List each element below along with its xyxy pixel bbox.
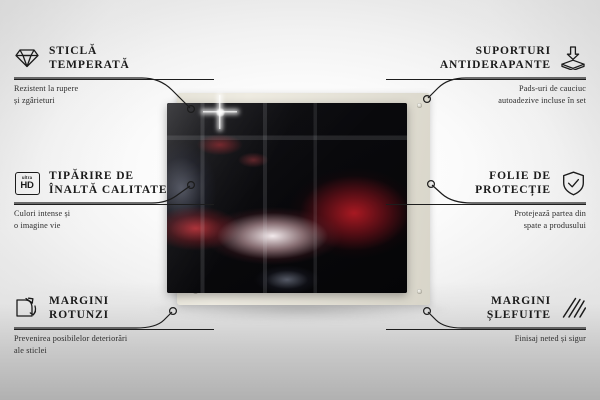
feature-title-line1: SUPORTURI bbox=[440, 44, 551, 58]
feature-divider bbox=[386, 79, 586, 80]
diagonal-lines-icon bbox=[560, 295, 586, 321]
feature-title: FOLIE DE PROTECȚIE bbox=[475, 169, 551, 197]
feature-title-line1: TIPĂRIRE DE bbox=[49, 169, 167, 183]
feature-title: TIPĂRIRE DE ÎNALTĂ CALITATE bbox=[49, 169, 167, 197]
feature-title-line2: ROTUNZI bbox=[49, 308, 109, 322]
feature-tiparire-inalta-calitate: ultra HD TIPĂRIRE DE ÎNALTĂ CALITATE Cul… bbox=[14, 165, 214, 231]
feature-margini-rotunzi: MARGINI ROTUNZI Prevenirea posibilelor d… bbox=[14, 290, 214, 356]
feature-title-line1: STICLĂ bbox=[49, 44, 130, 58]
diamond-icon bbox=[14, 45, 40, 71]
feature-title: STICLĂ TEMPERATĂ bbox=[49, 44, 130, 72]
feature-description: Culori intense și o imagine vie bbox=[14, 208, 214, 231]
feature-desc-line1: Prevenirea posibilelor deteriorări bbox=[14, 333, 214, 345]
feature-desc-line1: Culori intense și bbox=[14, 208, 214, 220]
feature-desc-line2: ale sticlei bbox=[14, 345, 214, 357]
feature-title-line2: PROTECȚIE bbox=[475, 183, 551, 197]
feature-description: Prevenirea posibilelor deteriorări ale s… bbox=[14, 333, 214, 356]
feature-title-line2: TEMPERATĂ bbox=[49, 58, 130, 72]
feature-header: MARGINI ȘLEFUITE bbox=[386, 290, 586, 326]
feature-header: SUPORTURI ANTIDERAPANTE bbox=[386, 40, 586, 76]
feature-title-line2: ȘLEFUITE bbox=[487, 308, 551, 322]
feature-divider bbox=[386, 329, 586, 330]
feature-folie-de-protectie: FOLIE DE PROTECȚIE Protejează partea din… bbox=[386, 165, 586, 231]
feature-divider bbox=[14, 204, 214, 205]
hd-badge-frame: ultra HD bbox=[15, 172, 40, 195]
feature-header: ultra HD TIPĂRIRE DE ÎNALTĂ CALITATE bbox=[14, 165, 214, 201]
pad-down-arrow-icon bbox=[560, 45, 586, 71]
feature-title: MARGINI ȘLEFUITE bbox=[487, 294, 551, 322]
feature-desc-line2: autoadezive incluse în set bbox=[386, 95, 586, 107]
feature-title-line1: MARGINI bbox=[487, 294, 551, 308]
feature-desc-line2: o imagine vie bbox=[14, 220, 214, 232]
feature-divider bbox=[14, 329, 214, 330]
feature-desc-line1: Finisaj neted și sigur bbox=[386, 333, 586, 345]
feature-title: SUPORTURI ANTIDERAPANTE bbox=[440, 44, 551, 72]
feature-title-line2: ANTIDERAPANTE bbox=[440, 58, 551, 72]
feature-suporturi-antiderapante: SUPORTURI ANTIDERAPANTE Pads-uri de cauc… bbox=[386, 40, 586, 106]
feature-desc-line1: Pads-uri de cauciuc bbox=[386, 83, 586, 95]
hd-badge-main-label: HD bbox=[20, 181, 33, 191]
feature-margini-slefuite: MARGINI ȘLEFUITE Finisaj neted și sigur bbox=[386, 290, 586, 345]
feature-desc-line2: și zgârieturi bbox=[14, 95, 214, 107]
feature-title-line1: FOLIE DE bbox=[475, 169, 551, 183]
feature-desc-line2: spate a produsului bbox=[386, 220, 586, 232]
feature-header: STICLĂ TEMPERATĂ bbox=[14, 40, 214, 76]
feature-title-line2: ÎNALTĂ CALITATE bbox=[49, 183, 167, 197]
feature-header: FOLIE DE PROTECȚIE bbox=[386, 165, 586, 201]
feature-description: Finisaj neted și sigur bbox=[386, 333, 586, 345]
feature-description: Rezistent la rupere și zgârieturi bbox=[14, 83, 214, 106]
feature-sticla-temperata: STICLĂ TEMPERATĂ Rezistent la rupere și … bbox=[14, 40, 214, 106]
ultra-hd-badge-icon: ultra HD bbox=[14, 170, 40, 196]
feature-title: MARGINI ROTUNZI bbox=[49, 294, 109, 322]
feature-header: MARGINI ROTUNZI bbox=[14, 290, 214, 326]
feature-desc-line1: Rezistent la rupere bbox=[14, 83, 214, 95]
feature-divider bbox=[14, 79, 214, 80]
infographic-canvas: STICLĂ TEMPERATĂ Rezistent la rupere și … bbox=[0, 0, 600, 400]
feature-desc-line1: Protejează partea din bbox=[386, 208, 586, 220]
shield-check-icon bbox=[560, 170, 586, 196]
rounded-corner-icon bbox=[14, 295, 40, 321]
feature-description: Pads-uri de cauciuc autoadezive incluse … bbox=[386, 83, 586, 106]
feature-description: Protejează partea din spate a produsului bbox=[386, 208, 586, 231]
feature-divider bbox=[386, 204, 586, 205]
feature-title-line1: MARGINI bbox=[49, 294, 109, 308]
